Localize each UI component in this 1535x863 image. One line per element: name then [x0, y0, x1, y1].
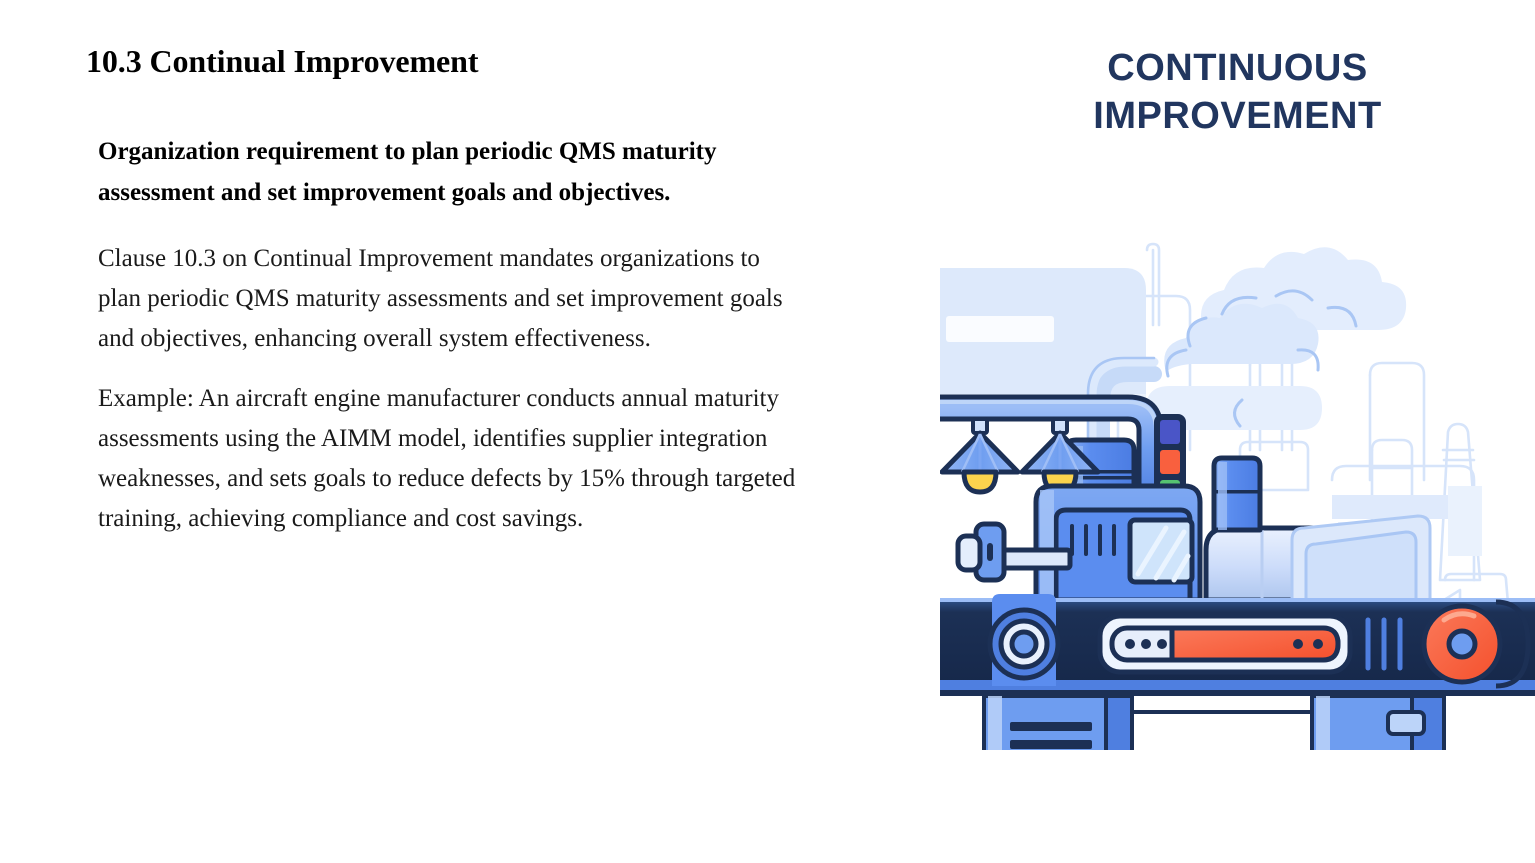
- illustration-heading: CONTINUOUS IMPROVEMENT: [940, 44, 1535, 140]
- factory-machine-illustration: [940, 150, 1535, 750]
- roller-wheel-icon: [1424, 606, 1500, 682]
- hanging-lamp-icon: [942, 419, 1098, 492]
- machine-base: [984, 696, 1444, 750]
- gear-wheel-icon: [990, 594, 1058, 686]
- illustration-panel: CONTINUOUS IMPROVEMENT: [940, 0, 1535, 760]
- page-title: 10.3 Continual Improvement: [86, 42, 816, 80]
- slide-text-column: 10.3 Continual Improvement Organization …: [86, 42, 816, 559]
- smoke-cloud-icon: [1146, 247, 1406, 430]
- machine-body: [958, 486, 1200, 600]
- progress-bar-icon: [1100, 616, 1350, 672]
- conveyor-belt-icon: [940, 594, 1535, 696]
- illustration-heading-line1: CONTINUOUS: [940, 44, 1535, 92]
- body-paragraph-1: Clause 10.3 on Continual Improvement man…: [86, 239, 798, 359]
- illustration-heading-line2: IMPROVEMENT: [940, 92, 1535, 140]
- machine-back-panels: [1292, 516, 1430, 600]
- body-paragraph-2: Example: An aircraft engine manufacturer…: [86, 379, 798, 539]
- slide-root: { "slide": { "title": "10.3 Continual Im…: [0, 0, 1535, 863]
- lead-paragraph: Organization requirement to plan periodi…: [86, 132, 788, 213]
